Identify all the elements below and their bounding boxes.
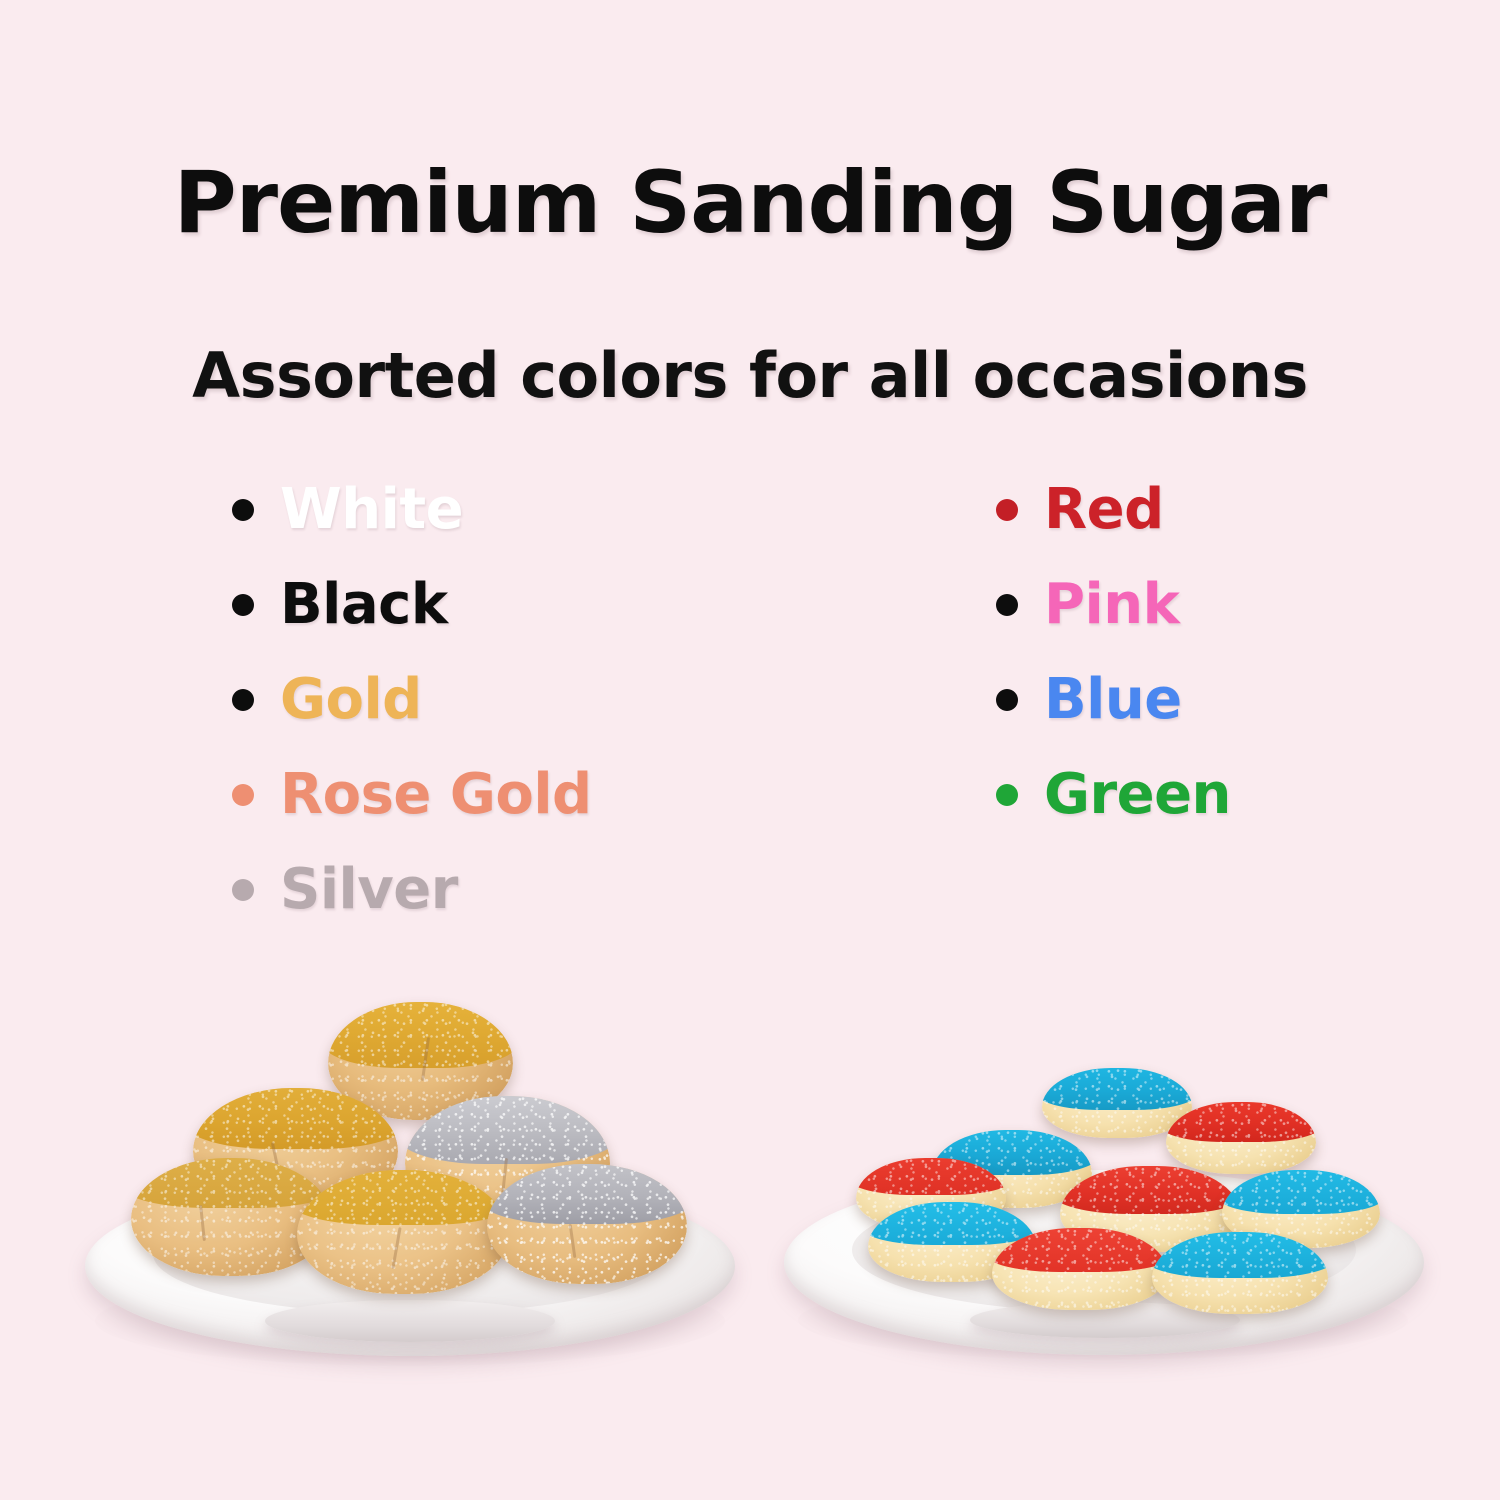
color-label: Red: [1044, 482, 1164, 538]
bullet-icon: [996, 594, 1018, 616]
page-subtitle: Assorted colors for all occasions: [0, 343, 1500, 408]
photo-red-blue-cookies: [770, 980, 1435, 1380]
cookie-silver-frontright: [487, 1164, 687, 1284]
color-label: Pink: [1044, 577, 1179, 633]
plate-scene-left: [75, 980, 740, 1380]
bullet-icon: [232, 499, 254, 521]
page-title: Premium Sanding Sugar: [0, 158, 1500, 248]
plate-scene-right: [770, 980, 1435, 1380]
plate-foot: [265, 1300, 555, 1342]
product-infographic: Premium Sanding Sugar Assorted colors fo…: [0, 0, 1500, 1500]
color-label: Silver: [280, 862, 458, 918]
bullet-icon: [232, 594, 254, 616]
color-list-left: White Black Gold Rose Gold Silver: [232, 462, 592, 937]
bullet-icon: [232, 784, 254, 806]
bullet-icon: [232, 689, 254, 711]
list-item: Rose Gold: [232, 747, 592, 842]
color-label: Green: [1044, 767, 1231, 823]
color-label: Blue: [1044, 672, 1182, 728]
color-label: Gold: [280, 672, 422, 728]
product-photos: [0, 980, 1500, 1410]
cookie-red-backright: [1166, 1102, 1316, 1174]
list-item: Blue: [996, 652, 1231, 747]
list-item: Silver: [232, 842, 592, 937]
list-item: Gold: [232, 652, 592, 747]
list-item: Black: [232, 557, 592, 652]
photo-gold-silver-cookies: [75, 980, 740, 1380]
cookie-gold-frontcenter: [297, 1170, 509, 1294]
bullet-icon: [232, 879, 254, 901]
bullet-icon: [996, 689, 1018, 711]
color-label: White: [280, 482, 463, 538]
color-list-right: Red Pink Blue Green: [996, 462, 1231, 842]
list-item: Red: [996, 462, 1231, 557]
bullet-icon: [996, 784, 1018, 806]
color-label: Rose Gold: [280, 767, 592, 823]
list-item: Green: [996, 747, 1231, 842]
color-options: White Black Gold Rose Gold Silver: [0, 462, 1500, 962]
color-label: Black: [280, 577, 448, 633]
cookie-blue-frontright: [1152, 1232, 1328, 1314]
cookie-red-frontcenter: [992, 1228, 1168, 1310]
list-item: White: [232, 462, 592, 557]
bullet-icon: [996, 499, 1018, 521]
list-item: Pink: [996, 557, 1231, 652]
